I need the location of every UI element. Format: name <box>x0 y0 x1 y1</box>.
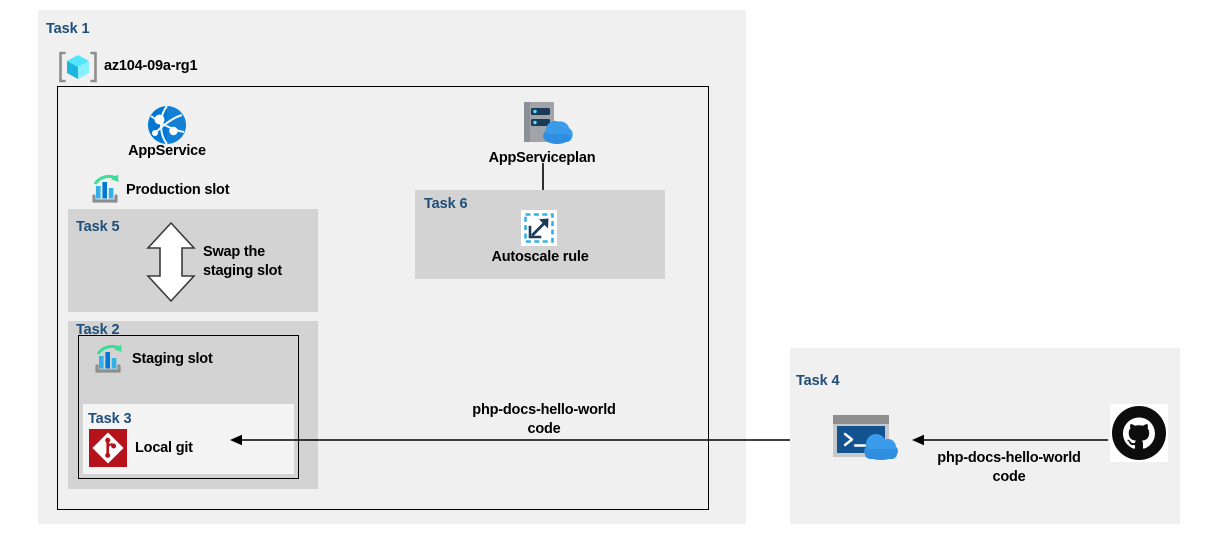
diagram-canvas: Task 1 az104-09a-rg1 AppService <box>0 0 1218 545</box>
autoscale-rule-label: Autoscale rule <box>455 248 625 266</box>
app-service-label: AppService <box>100 142 234 160</box>
task5-label: Task 5 <box>76 219 119 235</box>
task5-action-line2: staging slot <box>203 262 282 280</box>
task1-label: Task 1 <box>46 21 89 37</box>
github-octocat-icon <box>1110 404 1168 462</box>
resource-group-name: az104-09a-rg1 <box>104 57 197 75</box>
center-flow-label-line1: php-docs-hello-world <box>444 401 644 419</box>
arrow-github-to-cloudshell <box>910 430 1108 450</box>
git-icon <box>89 429 127 467</box>
task4-flow-label-line1: php-docs-hello-world <box>908 449 1110 467</box>
task6-label: Task 6 <box>424 196 467 212</box>
task4-label: Task 4 <box>796 373 839 389</box>
resource-group-icon <box>58 48 98 86</box>
local-git-label: Local git <box>135 439 193 457</box>
staging-slot-label: Staging slot <box>132 350 213 368</box>
deployment-slot-icon <box>91 344 125 376</box>
swap-up-down-arrow-icon <box>144 221 198 303</box>
app-service-plan-icon <box>512 98 574 146</box>
cloud-shell-icon <box>831 413 903 461</box>
task3-label: Task 3 <box>88 411 131 427</box>
autoscale-rule-icon <box>521 210 557 246</box>
production-slot-label: Production slot <box>126 181 229 199</box>
deployment-slot-icon <box>88 174 122 206</box>
task5-action-line1: Swap the <box>203 243 265 261</box>
task4-flow-label-line2: code <box>908 468 1110 486</box>
arrow-cloudshell-to-localgit <box>228 430 818 450</box>
app-service-globe-icon <box>146 104 188 146</box>
